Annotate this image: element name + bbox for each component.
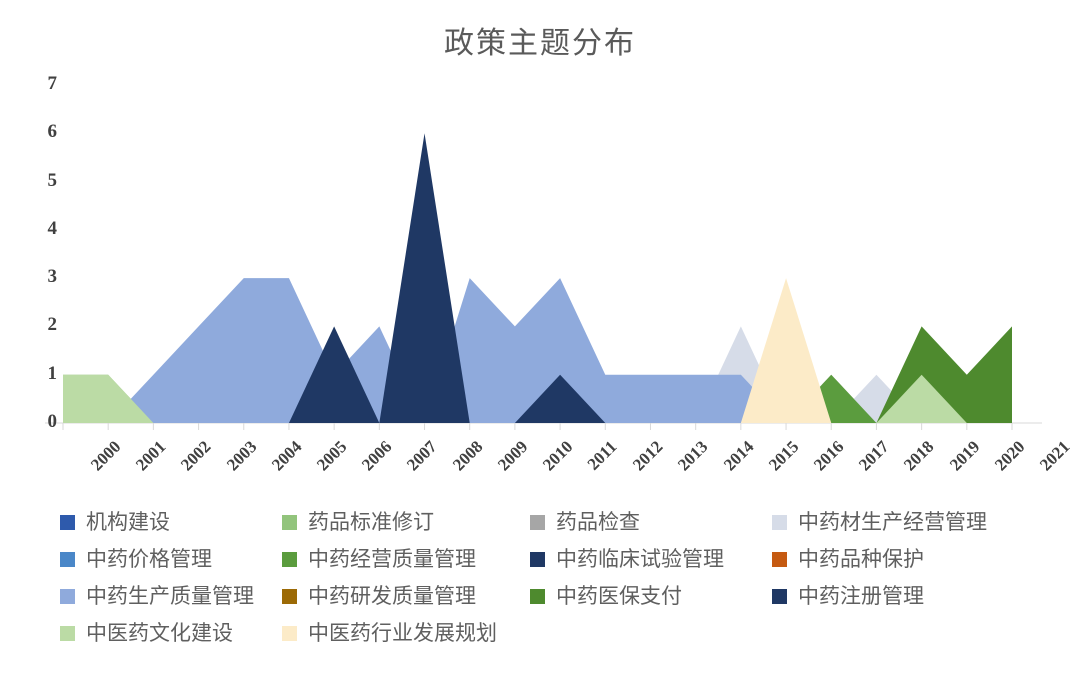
legend-label: 中药价格管理 — [86, 549, 212, 570]
legend-swatch-icon — [772, 515, 787, 530]
legend-label: 中医药行业发展规划 — [308, 623, 497, 644]
legend-swatch-icon — [282, 626, 297, 641]
legend-swatch-icon — [282, 515, 297, 530]
chart-legend: 机构建设药品标准修订药品检查中药材生产经营管理中药价格管理中药经营质量管理中药临… — [60, 512, 1060, 662]
legend-swatch-icon — [530, 515, 545, 530]
legend-item[interactable]: 中药经营质量管理 — [282, 549, 476, 570]
area-chart-svg — [0, 85, 1080, 445]
plot-area — [0, 85, 1080, 445]
y-tick-label: 6 — [27, 121, 57, 143]
area-series-13 — [741, 278, 831, 423]
area-series-11 — [379, 133, 469, 423]
legend-item[interactable]: 中药临床试验管理 — [530, 549, 724, 570]
legend-label: 中药医保支付 — [556, 586, 682, 607]
y-tick-label: 5 — [27, 170, 57, 192]
legend-swatch-icon — [530, 552, 545, 567]
legend-label: 药品标准修订 — [308, 512, 434, 533]
legend-label: 药品检查 — [556, 512, 640, 533]
legend-label: 机构建设 — [86, 512, 170, 533]
legend-swatch-icon — [60, 589, 75, 604]
legend-item[interactable]: 中药研发质量管理 — [282, 586, 476, 607]
y-tick-label: 3 — [27, 266, 57, 288]
legend-item[interactable]: 中药医保支付 — [530, 586, 682, 607]
y-tick-label: 1 — [27, 363, 57, 385]
y-tick-label: 2 — [27, 314, 57, 336]
y-tick-label: 0 — [27, 411, 57, 433]
legend-item[interactable]: 中药价格管理 — [60, 549, 212, 570]
chart-page: 政策主题分布 76543210 200020012002200320042005… — [0, 0, 1080, 679]
legend-swatch-icon — [772, 552, 787, 567]
legend-swatch-icon — [282, 552, 297, 567]
legend-item[interactable]: 中医药文化建设 — [60, 623, 233, 644]
legend-swatch-icon — [772, 589, 787, 604]
legend-item[interactable]: 药品标准修订 — [282, 512, 434, 533]
legend-item[interactable]: 中医药行业发展规划 — [282, 623, 497, 644]
y-tick-label: 7 — [27, 73, 57, 95]
legend-item[interactable]: 中药材生产经营管理 — [772, 512, 987, 533]
legend-item[interactable]: 机构建设 — [60, 512, 170, 533]
legend-swatch-icon — [60, 552, 75, 567]
legend-item[interactable]: 药品检查 — [530, 512, 640, 533]
legend-label: 中药生产质量管理 — [86, 586, 254, 607]
legend-label: 中药经营质量管理 — [308, 549, 476, 570]
legend-swatch-icon — [530, 589, 545, 604]
legend-label: 中药临床试验管理 — [556, 549, 724, 570]
legend-label: 中药注册管理 — [798, 586, 924, 607]
legend-label: 中药品种保护 — [798, 549, 924, 570]
legend-item[interactable]: 中药注册管理 — [772, 586, 924, 607]
legend-item[interactable]: 中药生产质量管理 — [60, 586, 254, 607]
legend-swatch-icon — [60, 626, 75, 641]
legend-label: 中药材生产经营管理 — [798, 512, 987, 533]
area-series-8 — [108, 278, 424, 423]
legend-label: 中医药文化建设 — [86, 623, 233, 644]
chart-title: 政策主题分布 — [0, 18, 1080, 62]
legend-swatch-icon — [60, 515, 75, 530]
y-tick-label: 4 — [27, 218, 57, 240]
legend-swatch-icon — [282, 589, 297, 604]
legend-item[interactable]: 中药品种保护 — [772, 549, 924, 570]
legend-label: 中药研发质量管理 — [308, 586, 476, 607]
